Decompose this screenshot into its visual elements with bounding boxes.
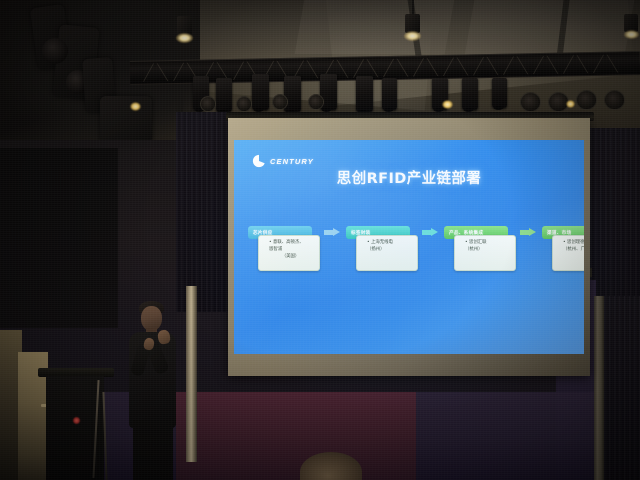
par-light-lit (442, 100, 453, 109)
presentation-photo: CENTURY 思创RFID产业链部署 芯片供应 • 意联、高顿杰、 恩智浦 （… (0, 0, 640, 480)
stage-curtain (604, 296, 640, 480)
flow-node-2-body: • 上海无线电 （扬州） (356, 235, 418, 271)
par-light-lens-icon (236, 96, 252, 112)
stage-par-light (216, 78, 232, 112)
flow-node-1-body: • 意联、高顿杰、 恩智浦 （美国） (258, 235, 320, 271)
par-light-lens-icon (604, 90, 625, 110)
flow-node-2-line2: （扬州） (361, 247, 414, 254)
stage-curtain (176, 112, 236, 312)
par-light-lens-icon (200, 96, 216, 112)
ceiling-speaker (100, 96, 152, 144)
brand-logo: CENTURY (252, 154, 314, 168)
flow-node-3-line1: • 思创汇联 (459, 240, 512, 247)
flow-arrow-3 (520, 228, 536, 237)
par-light-lens-icon (272, 94, 288, 110)
lectern-indicator-light (73, 417, 80, 424)
flow-chart: 芯片供应 • 意联、高顿杰、 恩智浦 （美国） 标签封装 • 上海无线电 （扬州… (248, 226, 574, 296)
stage-par-light (462, 78, 478, 110)
stage-par-light (356, 76, 373, 112)
par-light-lens-icon (308, 94, 324, 110)
pendant-light-glow (624, 30, 639, 39)
stage-par-light (382, 78, 397, 110)
presenter-legs (133, 420, 173, 480)
par-light-lens-icon (576, 90, 597, 110)
flow-node-1-line2: 恩智浦 (263, 247, 316, 254)
presentation-slide: CENTURY 思创RFID产业链部署 芯片供应 • 意联、高顿杰、 恩智浦 （… (234, 140, 584, 354)
stage-par-light (252, 74, 269, 110)
flow-node-4-body: • 思创理德 （杭州、广州） (552, 235, 584, 271)
speaker-cone-icon (42, 38, 68, 64)
century-c-logo-icon (252, 154, 266, 168)
flow-node-1-line3: （美国） (263, 254, 316, 261)
left-dark-wall (0, 148, 118, 328)
flow-node-3-body: • 思创汇联 （杭州） (454, 235, 516, 271)
brand-logo-text: CENTURY (270, 157, 314, 166)
maroon-wall-panel (176, 392, 416, 480)
flow-node-3-line2: （杭州） (459, 247, 512, 254)
par-light-lit (130, 102, 141, 111)
pendant-light-glow (176, 33, 193, 43)
par-light-lens-icon (520, 92, 541, 112)
par-light-lit (566, 100, 575, 108)
flow-node-4-line2: （杭州、广州） (557, 247, 584, 254)
flow-node-2-line1: • 上海无线电 (361, 240, 414, 247)
pendant-light-glow (404, 31, 421, 41)
flow-arrow-2 (422, 228, 438, 237)
presenter (120, 300, 190, 480)
flow-node-4-line1: • 思创理德 (557, 240, 584, 247)
wall-pillar (594, 296, 604, 480)
ceiling-panel (295, 0, 456, 54)
flow-node-1-line1: • 意联、高顿杰、 (263, 240, 316, 247)
slide-title: 思创RFID产业链部署 (234, 167, 584, 188)
flow-arrow-1 (324, 228, 340, 237)
stage-par-light (492, 78, 507, 108)
